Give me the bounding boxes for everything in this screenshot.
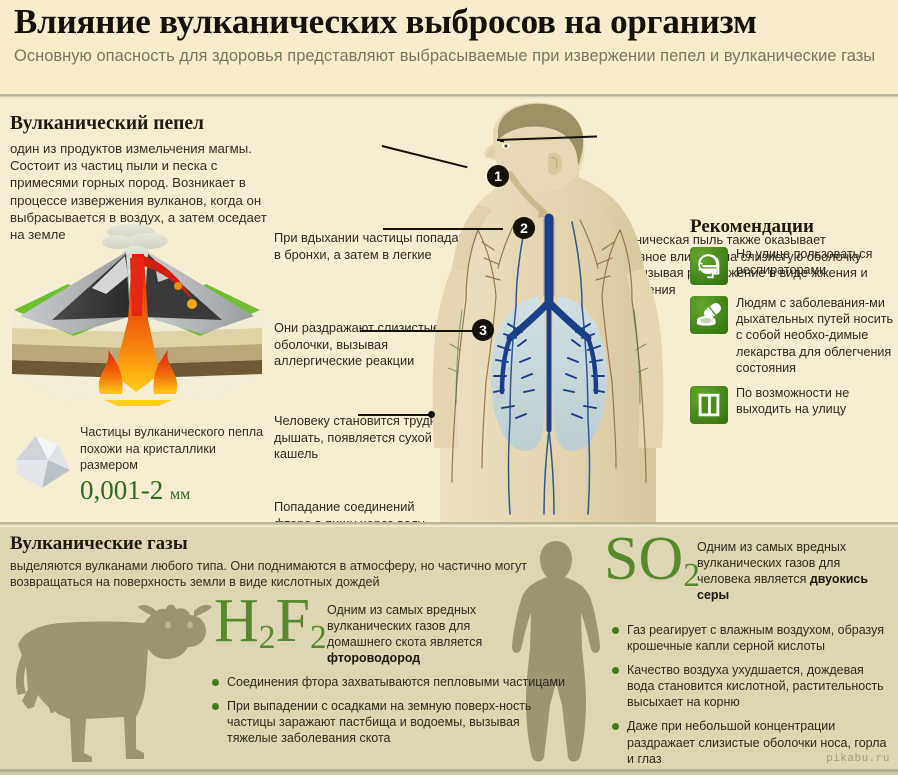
page-subtitle: Основную опасность для здоровья представ… xyxy=(14,45,884,68)
door-icon xyxy=(690,386,728,424)
ash-size-caption: Частицы вулканического пепла похожи на к… xyxy=(80,424,270,474)
list-item: Соединения фтора захватываются пепловыми… xyxy=(210,674,566,690)
marker-3: 3 xyxy=(472,319,494,341)
hf-lead-text-wrap: Одним из самых вредных вулканических газ… xyxy=(327,602,499,666)
leader-line-2 xyxy=(383,228,503,230)
recommendation-item-medicine: Людям с заболевания-ми дыхательных путей… xyxy=(690,295,895,376)
human-anatomy-figure xyxy=(398,100,698,522)
ash-size-unit: мм xyxy=(170,486,190,503)
list-item: Качество воздуха ухудшается, дождевая во… xyxy=(610,662,894,710)
so2-formula: SO2 xyxy=(604,528,700,600)
ash-heading: Вулканический пепел xyxy=(10,113,268,135)
leader-line-3 xyxy=(360,330,482,332)
leader-line-eyes-2 xyxy=(500,140,504,142)
gases-heading: Вулканические газы xyxy=(10,533,530,555)
infographic-page: Влияние вулканических выбросов на органи… xyxy=(0,0,898,775)
ash-size-caption-wrap: Частицы вулканического пепла похожи на к… xyxy=(80,424,270,510)
pills-icon xyxy=(690,296,728,334)
header: Влияние вулканических выбросов на органи… xyxy=(0,0,898,94)
hf-formula-h: H xyxy=(214,587,259,655)
recommendation-respirator-text: На улице пользоваться респираторами xyxy=(736,246,895,278)
so2-bullet-list: Газ реагирует с влажным воздухом, образу… xyxy=(610,622,894,775)
ash-size-value-wrap: 0,001-2 мм xyxy=(80,475,270,510)
recommendations-heading: Рекомендации xyxy=(690,216,895,238)
leader-line-4 xyxy=(358,414,430,416)
list-item: Даже при небольшой концентрации раздража… xyxy=(610,718,894,766)
recommendation-stay-indoors-text: По возможности не выходить на улицу xyxy=(736,385,895,417)
callout-4-anchor xyxy=(428,411,435,418)
pills-icon-glyph xyxy=(694,300,724,330)
recommendation-item-respirator: На улице пользоваться респираторами xyxy=(690,246,895,286)
gases-description: выделяются вулканами любого типа. Они по… xyxy=(10,558,530,590)
so2-lead-text-wrap: Одним из самых вредных вулканических газ… xyxy=(697,539,893,603)
ash-crystal-icon xyxy=(12,430,74,492)
list-item: Газ реагирует с влажным воздухом, образу… xyxy=(610,622,894,654)
respirator-icon xyxy=(690,247,728,285)
list-item: При выпадении с осадками на земную повер… xyxy=(210,698,566,746)
marker-2: 2 xyxy=(513,217,535,239)
hf-formula-f: F xyxy=(276,587,310,655)
volcano-illustration xyxy=(8,224,266,409)
hf-formula-h-sub: 2 xyxy=(259,619,276,656)
ash-size-value: 0,001-2 xyxy=(80,475,163,505)
page-title: Влияние вулканических выбросов на органи… xyxy=(14,2,884,42)
hf-lead-bold: фтороводород xyxy=(327,651,420,665)
hf-formula-f-sub: 2 xyxy=(310,619,327,656)
recommendation-item-stay-indoors: По возможности не выходить на улицу xyxy=(690,385,895,425)
hf-formula: H2F2 xyxy=(214,590,327,662)
respirator-icon-glyph xyxy=(694,251,724,281)
so2-formula-main: SO xyxy=(604,525,683,593)
hf-bullet-list: Соединения фтора захватываются пепловыми… xyxy=(210,674,566,754)
callout-1-anchor xyxy=(500,168,507,175)
hf-lead-text: Одним из самых вредных вулканических газ… xyxy=(327,603,482,649)
recommendation-medicine-text: Людям с заболевания-ми дыхательных путей… xyxy=(736,295,895,376)
gases-text-block: Вулканические газы выделяются вулканами … xyxy=(10,533,530,590)
recommendations-block: Рекомендации На улице пользоваться респи… xyxy=(690,216,895,434)
door-icon-glyph xyxy=(694,390,724,420)
cow-silhouette xyxy=(8,597,218,769)
